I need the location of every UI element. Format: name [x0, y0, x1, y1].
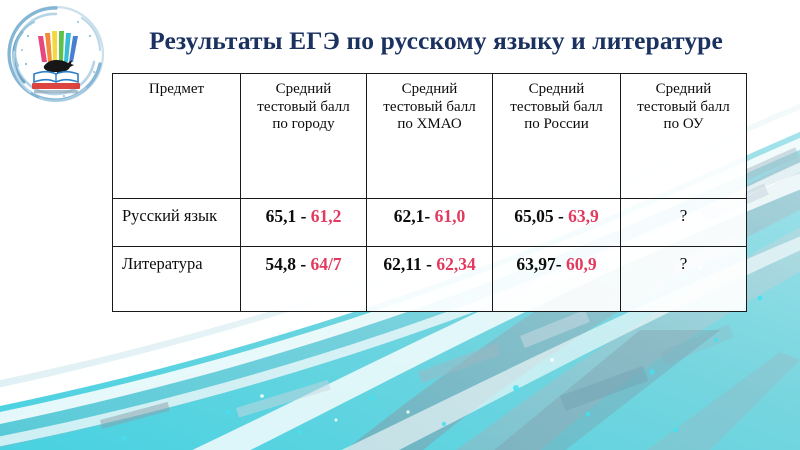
score-black: 62,1-: [394, 206, 435, 226]
unknown-value: ?: [621, 199, 746, 226]
table-header-cell-russia: Средний тестовый балл по России: [493, 74, 621, 199]
header-line: по России: [493, 116, 620, 134]
cell-khmao-score: 62,1- 61,0: [367, 199, 493, 247]
cell-city-score: 54,8 - 64/7: [241, 247, 367, 312]
table-header-cell-city: Средний тестовый балл по городу: [241, 74, 367, 199]
score-black: 65,05 -: [514, 206, 568, 226]
header-line: тестовый балл: [621, 99, 746, 117]
crest-stripes: [38, 31, 78, 62]
cell-subject: Русский язык: [113, 199, 241, 247]
cell-ou-score: ?: [621, 199, 747, 247]
crest-banner: [32, 83, 80, 93]
header-line: Средний: [367, 81, 492, 99]
crest-book-icon: [34, 72, 78, 82]
score-black: 54,8 -: [265, 254, 310, 274]
cell-city-score: 65,1 - 61,2: [241, 199, 367, 247]
table-header-cell-ou: Средний тестовый балл по ОУ: [621, 74, 747, 199]
score-red: 64/7: [311, 254, 342, 274]
score-black: 65,1 -: [266, 206, 311, 226]
score-red: 63,9: [568, 206, 599, 226]
score-red: 61,0: [435, 206, 466, 226]
header-line: по ХМАО: [367, 116, 492, 134]
header-line: тестовый балл: [241, 99, 366, 117]
header-line: тестовый балл: [493, 99, 620, 117]
cell-russia-score: 65,05 - 63,9: [493, 199, 621, 247]
header-line: по ОУ: [621, 116, 746, 134]
header-line: тестовый балл: [367, 99, 492, 117]
cell-russia-score: 63,97- 60,9: [493, 247, 621, 312]
unknown-value: ?: [621, 247, 746, 274]
header-line: по городу: [241, 116, 366, 134]
score-red: 60,9: [566, 254, 597, 274]
header-line: Средний: [493, 81, 620, 99]
header-line: Средний: [621, 81, 746, 99]
page-title: Результаты ЕГЭ по русскому языку и литер…: [112, 26, 760, 56]
cell-ou-score: ?: [621, 247, 747, 312]
table-row: Литература 54,8 - 64/7 62,11 - 62,34 63,…: [113, 247, 747, 312]
header-line: Предмет: [113, 81, 240, 99]
cell-subject: Литература: [113, 247, 241, 312]
school-emblem-logo: [4, 2, 108, 106]
table-header-row: Предмет Средний тестовый балл по городу …: [113, 74, 747, 199]
header-line: Средний: [241, 81, 366, 99]
table-header-cell-subject: Предмет: [113, 74, 241, 199]
score-black: 63,97-: [516, 254, 566, 274]
subject-label: Русский язык: [113, 199, 240, 226]
score-red: 61,2: [311, 206, 342, 226]
ege-results-table: Предмет Средний тестовый балл по городу …: [112, 73, 747, 312]
table-row: Русский язык 65,1 - 61,2 62,1- 61,0 65,0…: [113, 199, 747, 247]
cell-khmao-score: 62,11 - 62,34: [367, 247, 493, 312]
table-header-cell-khmao: Средний тестовый балл по ХМАО: [367, 74, 493, 199]
subject-label: Литература: [113, 247, 240, 274]
score-black: 62,11 -: [383, 254, 436, 274]
slide-canvas: Результаты ЕГЭ по русскому языку и литер…: [0, 0, 800, 450]
score-red: 62,34: [436, 254, 475, 274]
